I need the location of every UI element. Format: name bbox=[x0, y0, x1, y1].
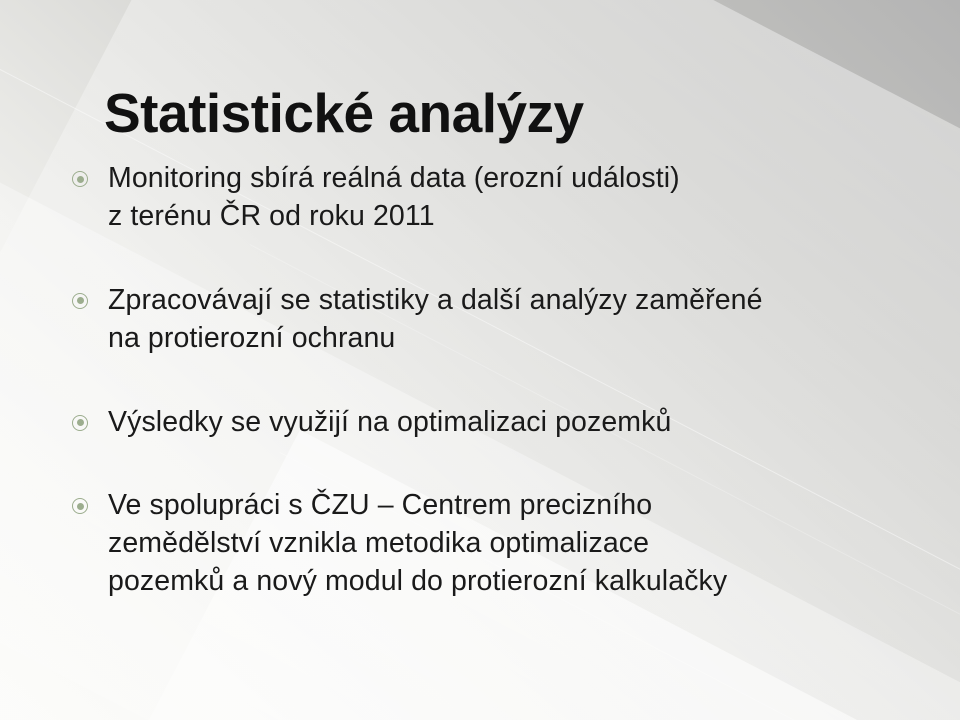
presentation-slide: Statistické analýzy Monitoring sbírá reá… bbox=[0, 0, 960, 720]
bullet-item: Výsledky se využijí na optimalizaci poze… bbox=[64, 404, 944, 442]
slide-content: Statistické analýzy Monitoring sbírá reá… bbox=[0, 0, 960, 720]
bullet-line: zemědělství vznikla metodika optimalizac… bbox=[108, 525, 944, 563]
bullet-item: Ve spolupráci s ČZU – Centrem precizního… bbox=[64, 487, 944, 601]
target-ring-bullet-icon bbox=[72, 415, 88, 431]
bullet-item: Monitoring sbírá reálná data (erozní udá… bbox=[64, 160, 944, 236]
bullet-text: Výsledky se využijí na optimalizaci poze… bbox=[108, 404, 944, 442]
target-ring-bullet-icon bbox=[72, 498, 88, 514]
bullet-line: pozemků a nový modul do protierozní kalk… bbox=[108, 563, 944, 601]
slide-title: Statistické analýzy bbox=[104, 85, 584, 143]
bullet-item: Zpracovávají se statistiky a další analý… bbox=[64, 282, 944, 358]
bullet-line: Ve spolupráci s ČZU – Centrem precizního bbox=[108, 487, 944, 525]
bullet-text: Zpracovávají se statistiky a další analý… bbox=[108, 282, 944, 358]
target-ring-bullet-icon bbox=[72, 171, 88, 187]
bullet-text: Monitoring sbírá reálná data (erozní udá… bbox=[108, 160, 944, 236]
bullet-line: na protierozní ochranu bbox=[108, 320, 944, 358]
bullet-text: Ve spolupráci s ČZU – Centrem precizního… bbox=[108, 487, 944, 601]
bullet-line: Zpracovávají se statistiky a další analý… bbox=[108, 282, 944, 320]
bullet-line: z terénu ČR od roku 2011 bbox=[108, 198, 944, 236]
bullet-list: Monitoring sbírá reálná data (erozní udá… bbox=[64, 160, 944, 601]
bullet-line: Výsledky se využijí na optimalizaci poze… bbox=[108, 404, 944, 442]
bullet-line: Monitoring sbírá reálná data (erozní udá… bbox=[108, 160, 944, 198]
target-ring-bullet-icon bbox=[72, 293, 88, 309]
